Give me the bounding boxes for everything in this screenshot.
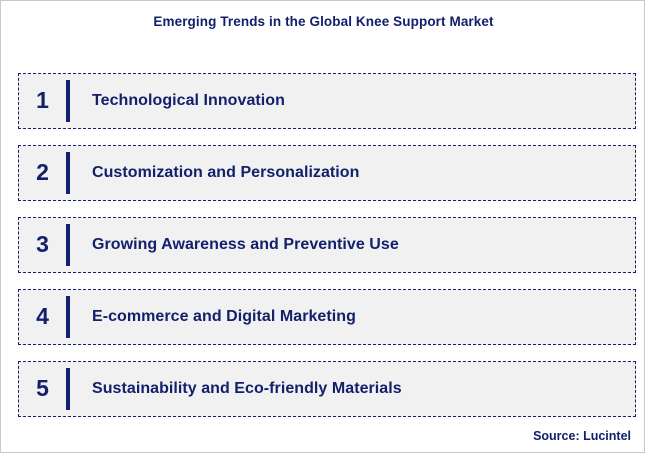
trend-number: 4	[19, 305, 66, 330]
trend-number: 1	[19, 89, 66, 114]
trend-label: Growing Awareness and Preventive Use	[70, 236, 399, 254]
source-attribution: Source: Lucintel	[533, 429, 631, 443]
trend-number: 3	[19, 233, 66, 258]
trend-label: Customization and Personalization	[70, 164, 359, 182]
trend-list: 1 Technological Innovation 2 Customizati…	[18, 73, 636, 417]
list-item[interactable]: 2 Customization and Personalization	[18, 145, 636, 201]
list-item[interactable]: 5 Sustainability and Eco-friendly Materi…	[18, 361, 636, 417]
trend-number: 2	[19, 161, 66, 186]
list-item[interactable]: 1 Technological Innovation	[18, 73, 636, 129]
trend-label: E-commerce and Digital Marketing	[70, 308, 356, 326]
infographic-canvas: Emerging Trends in the Global Knee Suppo…	[0, 0, 645, 453]
trend-label: Technological Innovation	[70, 92, 285, 110]
trend-number: 5	[19, 377, 66, 402]
trend-label: Sustainability and Eco-friendly Material…	[70, 380, 402, 398]
page-title: Emerging Trends in the Global Knee Suppo…	[1, 14, 645, 29]
list-item[interactable]: 4 E-commerce and Digital Marketing	[18, 289, 636, 345]
list-item[interactable]: 3 Growing Awareness and Preventive Use	[18, 217, 636, 273]
